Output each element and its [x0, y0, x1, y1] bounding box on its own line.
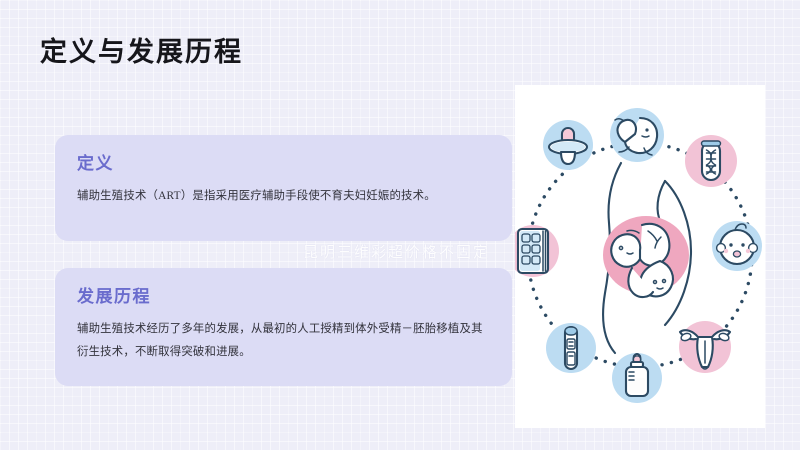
pill-blister-pack-icon [515, 225, 559, 277]
pacifier-icon [543, 120, 593, 170]
baby-face-icon [712, 221, 762, 271]
dna-test-tube-icon [685, 135, 737, 187]
card-definition-body: 辅助生殖技术（ART）是指采用医疗辅助手段使不育夫妇妊娠的技术。 [77, 185, 490, 208]
twin-fetuses-in-womb-icon [603, 163, 691, 353]
card-history-body: 辅助生殖技术经历了多年的发展，从最初的人工授精到体外受精－胚胎移植及其衍生技术，… [77, 318, 490, 364]
illustration-panel: .ln { fill:none; stroke:#2c4a63; stroke-… [515, 85, 765, 428]
card-definition-heading: 定义 [77, 149, 490, 174]
fertility-cycle-illustration: .ln { fill:none; stroke:#2c4a63; stroke-… [515, 85, 765, 428]
slide-canvas: 定义与发展历程 定义 辅助生殖技术（ART）是指采用医疗辅助手段使不育夫妇妊娠的… [0, 0, 800, 450]
baby-bottle-icon [612, 353, 662, 403]
page-title: 定义与发展历程 [40, 30, 243, 69]
card-history: 发展历程 辅助生殖技术经历了多年的发展，从最初的人工授精到体外受精－胚胎移植及其… [55, 268, 512, 386]
pregnancy-test-icon [546, 323, 596, 373]
card-definition: 定义 辅助生殖技术（ART）是指采用医疗辅助手段使不育夫妇妊娠的技术。 [55, 135, 512, 241]
fetus-icon [610, 108, 664, 162]
watermark-text: 昆明三维彩超价格不固定 [303, 241, 490, 262]
uterus-ovaries-icon [679, 321, 731, 373]
card-history-heading: 发展历程 [77, 282, 490, 307]
